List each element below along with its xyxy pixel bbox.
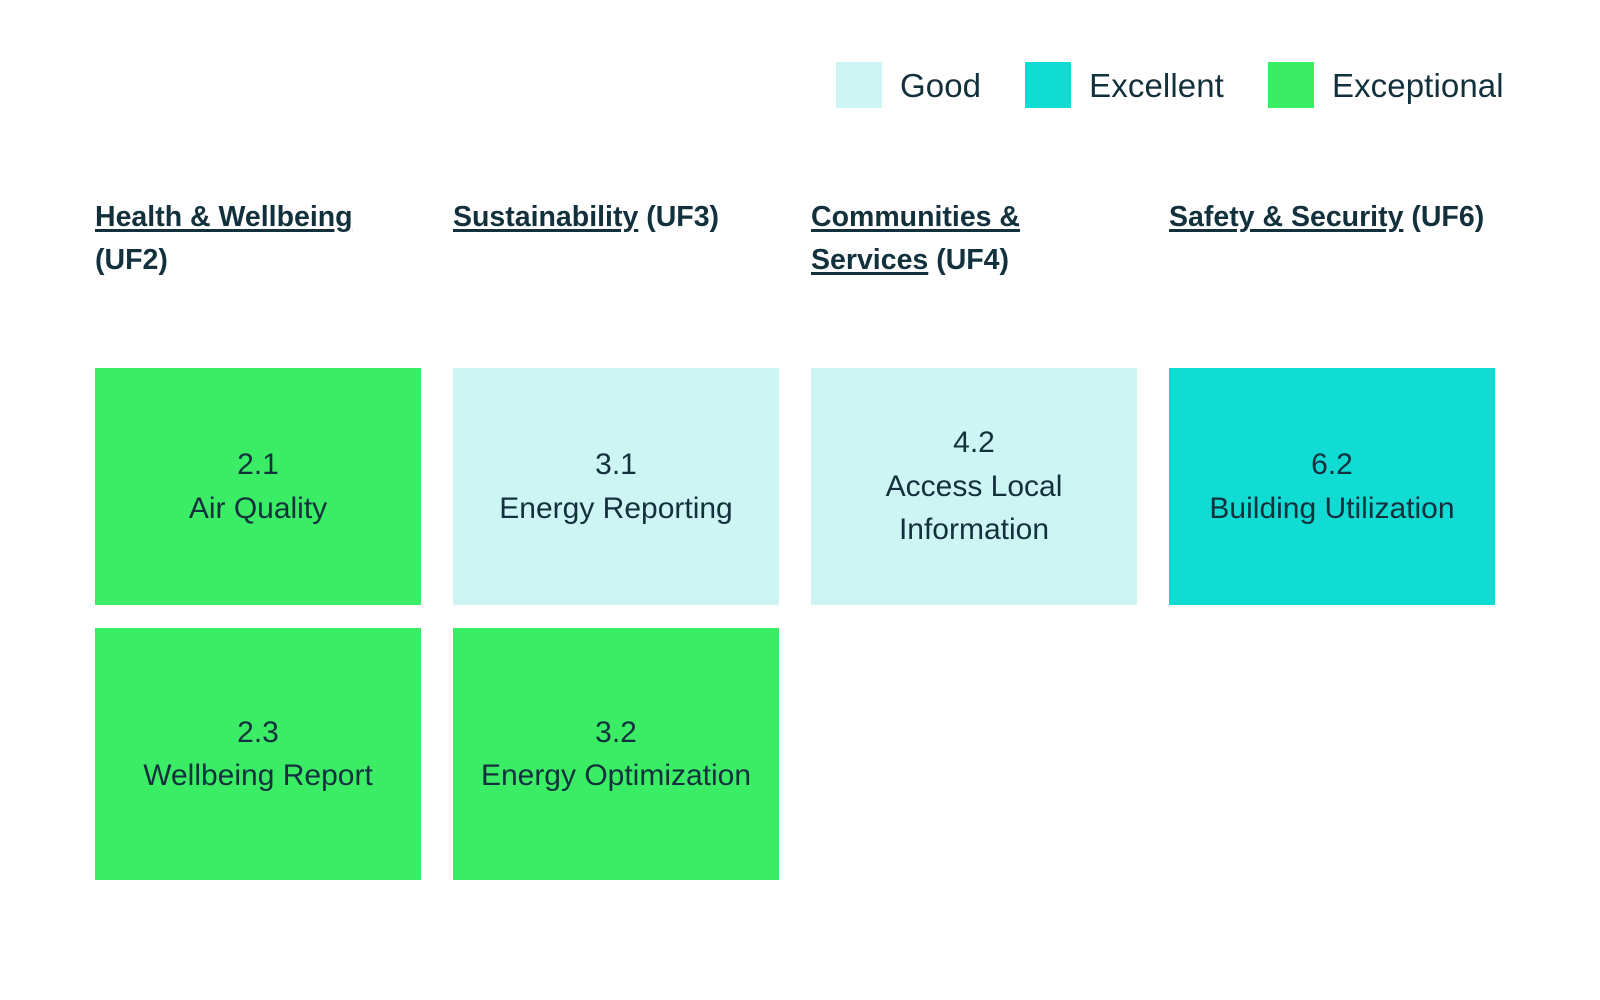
tile-title: Energy Optimization bbox=[481, 754, 751, 798]
tile-ref: 2.3 bbox=[237, 711, 279, 755]
tile-title: Energy Reporting bbox=[499, 487, 732, 531]
legend-item-excellent: Excellent bbox=[1025, 62, 1224, 108]
tile-6-2[interactable]: 6.2 Building Utilization bbox=[1169, 368, 1495, 605]
legend-label-excellent: Excellent bbox=[1089, 69, 1224, 102]
tile-ref: 3.2 bbox=[595, 711, 637, 755]
tile-ref: 4.2 bbox=[953, 421, 995, 465]
tile-3-1[interactable]: 3.1 Energy Reporting bbox=[453, 368, 779, 605]
column-header-name: Health & Wellbeing bbox=[95, 201, 353, 233]
column-header-uf3: Sustainability (UF3) bbox=[453, 196, 779, 368]
tile-title: Wellbeing Report bbox=[143, 754, 373, 798]
tile-ref: 6.2 bbox=[1311, 443, 1353, 487]
legend: Good Excellent Exceptional bbox=[836, 62, 1504, 108]
column-header-uf6: Safety & Security (UF6) bbox=[1169, 196, 1495, 368]
column-header-uf2: Health & Wellbeing (UF2) bbox=[95, 196, 421, 368]
legend-label-good: Good bbox=[900, 69, 981, 102]
column-uf4: Communities & Services (UF4) 4.2 Access … bbox=[811, 196, 1137, 880]
column-header-code: (UF4) bbox=[928, 244, 1009, 276]
scorecard-grid: Health & Wellbeing (UF2) 2.1 Air Quality… bbox=[95, 196, 1530, 880]
column-uf3: Sustainability (UF3) 3.1 Energy Reportin… bbox=[453, 196, 779, 880]
tile-3-2[interactable]: 3.2 Energy Optimization bbox=[453, 628, 779, 880]
legend-item-exceptional: Exceptional bbox=[1268, 62, 1504, 108]
tiles-uf6: 6.2 Building Utilization bbox=[1169, 368, 1495, 605]
legend-swatch-exceptional bbox=[1268, 62, 1314, 108]
tile-ref: 2.1 bbox=[237, 443, 279, 487]
tile-title: Access Local Information bbox=[824, 465, 1124, 552]
tiles-uf3: 3.1 Energy Reporting 3.2 Energy Optimiza… bbox=[453, 368, 779, 880]
column-uf6: Safety & Security (UF6) 6.2 Building Uti… bbox=[1169, 196, 1495, 880]
tile-4-2[interactable]: 4.2 Access Local Information bbox=[811, 368, 1137, 605]
legend-swatch-good bbox=[836, 62, 882, 108]
column-header-name: Safety & Security bbox=[1169, 201, 1403, 233]
tile-title: Air Quality bbox=[189, 487, 327, 531]
tile-title: Building Utilization bbox=[1209, 487, 1454, 531]
legend-label-exceptional: Exceptional bbox=[1332, 69, 1504, 102]
tile-2-1[interactable]: 2.1 Air Quality bbox=[95, 368, 421, 605]
tiles-uf2: 2.1 Air Quality 2.3 Wellbeing Report bbox=[95, 368, 421, 880]
column-header-name: Sustainability bbox=[453, 201, 638, 233]
legend-swatch-excellent bbox=[1025, 62, 1071, 108]
tile-ref: 3.1 bbox=[595, 443, 637, 487]
tiles-uf4: 4.2 Access Local Information bbox=[811, 368, 1137, 605]
tile-2-3[interactable]: 2.3 Wellbeing Report bbox=[95, 628, 421, 880]
column-uf2: Health & Wellbeing (UF2) 2.1 Air Quality… bbox=[95, 196, 421, 880]
legend-item-good: Good bbox=[836, 62, 981, 108]
column-header-code: (UF2) bbox=[95, 244, 168, 276]
column-header-code: (UF3) bbox=[638, 201, 719, 233]
column-header-uf4: Communities & Services (UF4) bbox=[811, 196, 1137, 368]
column-header-code: (UF6) bbox=[1403, 201, 1484, 233]
